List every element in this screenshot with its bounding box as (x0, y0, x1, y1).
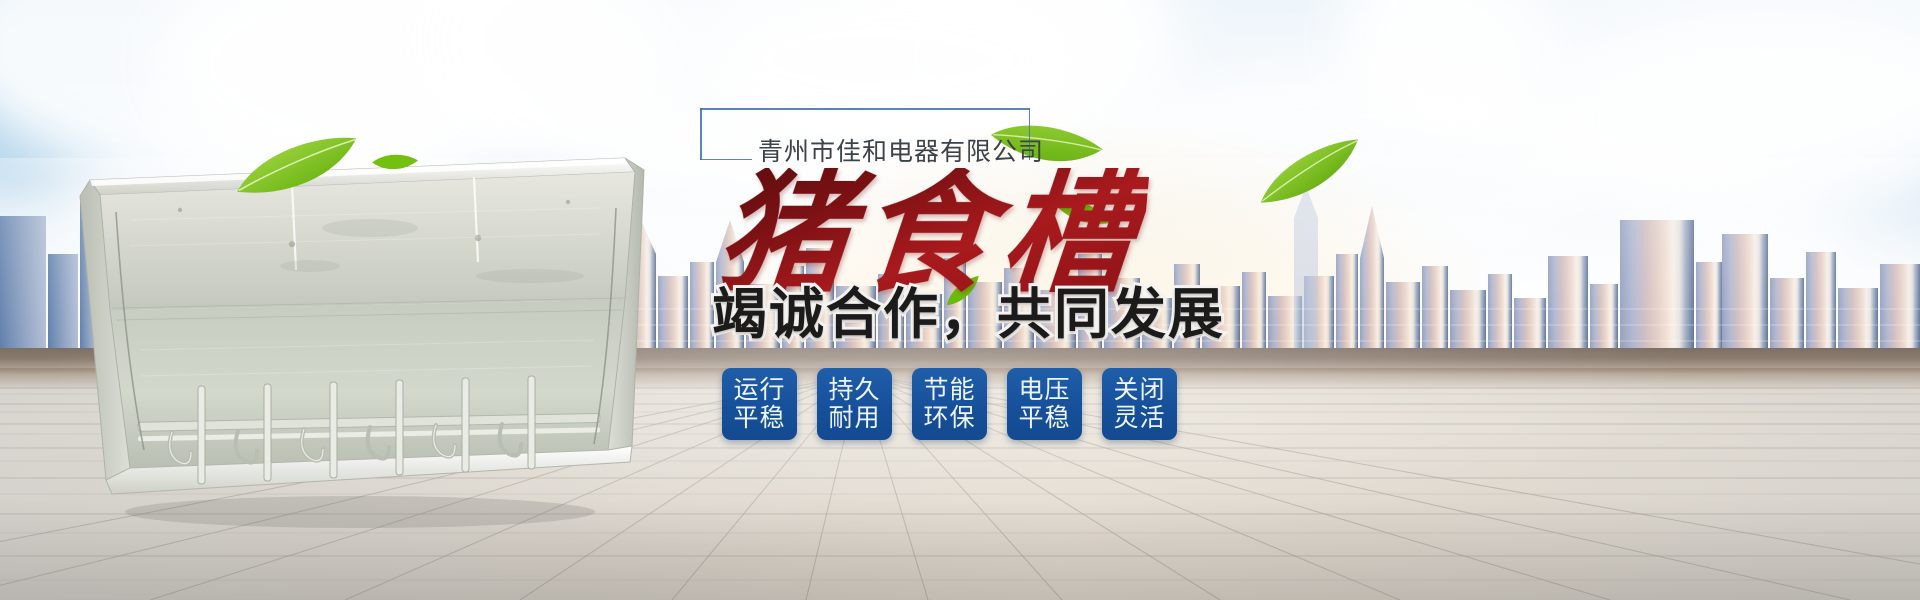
badge-line-2: 灵活 (1113, 404, 1165, 432)
feature-badge[interactable]: 电压 平稳 (1007, 368, 1082, 440)
subtitle-slogan: 竭诚合作，共同发展 (712, 287, 1225, 342)
badge-line-1: 持久 (828, 376, 880, 404)
feature-badge-list: 运行 平稳 持久 耐用 节能 环保 电压 平稳 关闭 灵活 (722, 368, 1177, 440)
badge-line-1: 电压 (1018, 376, 1070, 404)
feature-badge[interactable]: 运行 平稳 (722, 368, 797, 440)
frame-line-top (700, 108, 1030, 110)
badge-line-1: 关闭 (1113, 376, 1165, 404)
product-image-feeder-trough (60, 150, 660, 530)
promotional-banner: 青州市佳和电器有限公司 猪食槽 竭诚合作，共同发展 运行 平稳 持久 耐用 节能… (0, 0, 1920, 600)
badge-line-2: 平稳 (1018, 404, 1070, 432)
feature-badge[interactable]: 节能 环保 (912, 368, 987, 440)
frame-line-left (700, 108, 702, 160)
badge-line-2: 耐用 (828, 404, 880, 432)
badge-line-1: 运行 (733, 376, 785, 404)
headline-product-title: 猪食槽 (712, 168, 1150, 300)
badge-line-2: 环保 (923, 404, 975, 432)
badge-line-2: 平稳 (733, 404, 785, 432)
feature-badge[interactable]: 关闭 灵活 (1102, 368, 1177, 440)
company-name-frame: 青州市佳和电器有限公司 (700, 108, 1030, 160)
feature-badge[interactable]: 持久 耐用 (817, 368, 892, 440)
badge-line-1: 节能 (923, 376, 975, 404)
